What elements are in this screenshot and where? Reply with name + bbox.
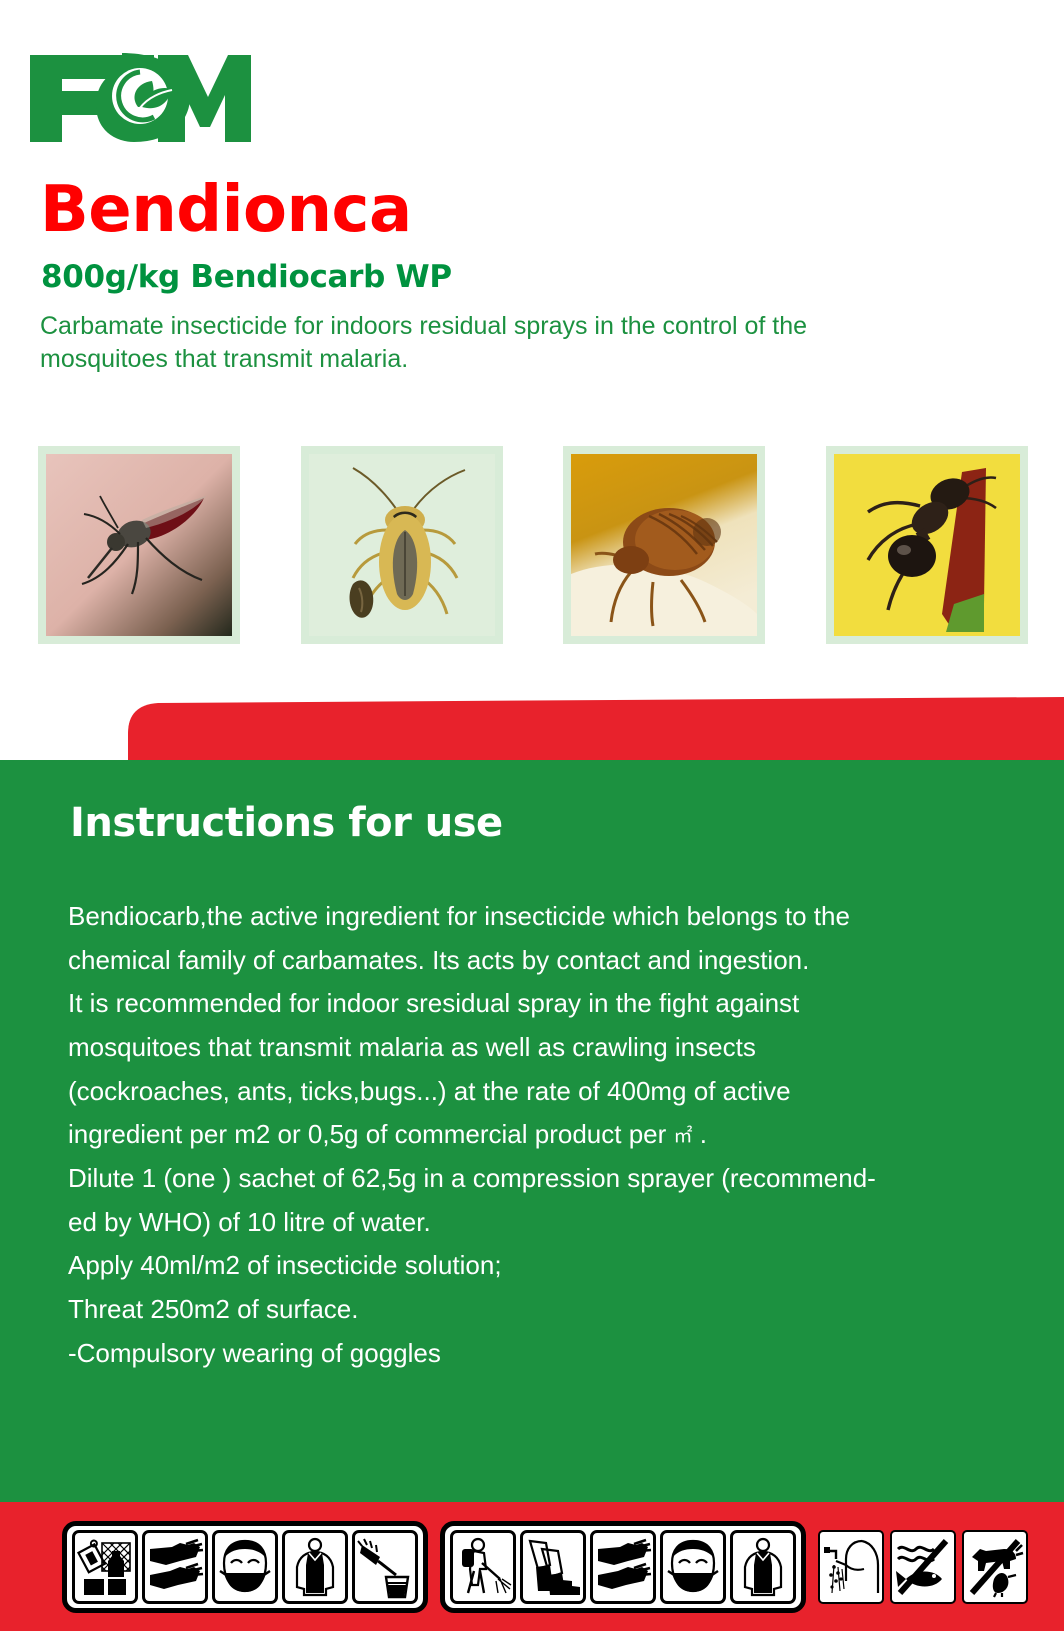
wear-gloves-icon — [590, 1530, 656, 1604]
product-tagline: Carbamate insecticide for indoors residu… — [40, 310, 840, 376]
cockroach-photo — [301, 446, 503, 644]
instr-line-8: ed by WHO) of 10 litre of water. — [68, 1201, 1008, 1245]
instr-line-9: Apply 40ml/m2 of insecticide solution; — [68, 1244, 1008, 1288]
pictogram-group-after-use — [818, 1521, 1028, 1613]
wash-after-use-icon — [818, 1530, 884, 1604]
instructions-heading: Instructions for use — [70, 800, 503, 846]
wear-boots-icon — [520, 1530, 586, 1604]
wear-apron-icon — [282, 1530, 348, 1604]
wear-face-mask-icon — [660, 1530, 726, 1604]
do-not-contaminate-water-icon — [890, 1530, 956, 1604]
instr-line-3: It is recommended for indoor sresidual s… — [68, 982, 1008, 1026]
instr-line-7: Dilute 1 (one ) sachet of 62,5g in a com… — [68, 1157, 1008, 1201]
safety-pictogram-bar — [62, 1519, 1002, 1615]
product-strength: 800g/kg Bendiocarb WP — [41, 262, 452, 293]
pictogram-group-application — [440, 1521, 806, 1613]
mosquito-icon — [46, 454, 232, 636]
instr-line-6: ingredient per m2 or 0,5g of commercial … — [68, 1113, 1008, 1157]
instr-line-5: (cockroaches, ants, ticks,bugs...) at th… — [68, 1070, 1008, 1114]
product-name: Bendionca — [40, 178, 412, 242]
instr-line-10: Threat 250m2 of surface. — [68, 1288, 1008, 1332]
instructions-text: Bendiocarb,the active ingredient for ins… — [68, 895, 1008, 1375]
wash-equipment-icon — [352, 1530, 418, 1604]
fcm-logo — [22, 45, 252, 145]
wear-face-mask-icon — [212, 1530, 278, 1604]
mosquito-photo — [38, 446, 240, 644]
instr-line-11: -Compulsory wearing of goggles — [68, 1332, 1008, 1376]
ant-photo — [826, 446, 1028, 644]
instr-line-6-text: ingredient per m2 or 0,5g of commercial … — [68, 1119, 674, 1149]
product-label-page: Bendionca 800g/kg Bendiocarb WP Carbamat… — [0, 0, 1064, 1631]
wear-apron-icon — [730, 1530, 796, 1604]
safety-pictogram-footer — [0, 1502, 1064, 1631]
instr-line-2: chemical family of carbamates. Its acts … — [68, 939, 1008, 983]
pest-photo-strip — [38, 446, 1028, 646]
leaf-in-circle-icon — [22, 45, 252, 145]
bedbug-icon — [571, 454, 757, 636]
instr-line-1: Bendiocarb,the active ingredient for ins… — [68, 895, 1008, 939]
square-metre-symbol: ㎡ — [674, 1125, 693, 1147]
ant-icon — [834, 454, 1020, 636]
cockroach-icon — [309, 454, 495, 636]
instructions-panel: Instructions for use Bendiocarb,the acti… — [0, 760, 1064, 1502]
spray-operator-icon — [450, 1530, 516, 1604]
instr-line-6-tail: . — [693, 1119, 707, 1149]
bedbug-photo — [563, 446, 765, 644]
keep-locked-away-from-food-icon — [72, 1530, 138, 1604]
wear-gloves-icon — [142, 1530, 208, 1604]
keep-animals-away-icon — [962, 1530, 1028, 1604]
pictogram-group-storage — [62, 1521, 428, 1613]
instr-line-4: mosquitoes that transmit malaria as well… — [68, 1026, 1008, 1070]
